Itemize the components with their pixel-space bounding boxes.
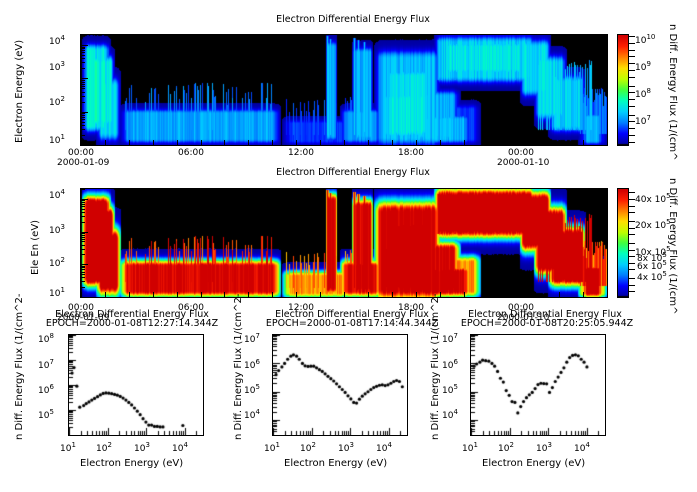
axis-tick — [464, 292, 465, 297]
axis-tick — [177, 292, 178, 297]
axis-tick — [81, 78, 88, 79]
spectrum-2-xtick-2: 103 — [338, 441, 354, 454]
spectrogram-mid-ytick-1: 103 — [49, 223, 65, 236]
spectrogram-top-title: Electron Differential Energy Flux — [233, 14, 473, 25]
spectrogram-top-ylabel: Electron Energy (eV) — [14, 40, 25, 143]
axis-tick — [81, 45, 88, 46]
axis-tick — [81, 272, 85, 273]
axis-tick — [81, 212, 85, 213]
spectrogram-mid-colorbar[interactable] — [617, 188, 629, 298]
spectrogram-top-xdate-right: 2000-01-10 — [497, 158, 549, 168]
colorbar-tick — [629, 269, 635, 270]
spectrum-3-canvas — [471, 335, 605, 435]
spectrum-3-ytick-3: 104 — [442, 408, 458, 421]
spectrum-2-xtick-3: 104 — [376, 441, 392, 454]
colorbar-tick — [629, 278, 635, 279]
spectrogram-top-ytick-2: 102 — [49, 95, 65, 108]
spectrogram-top-ytick-0: 104 — [49, 34, 65, 47]
axis-tick — [320, 292, 321, 297]
axis-tick — [81, 281, 85, 282]
axis-tick — [81, 235, 85, 236]
spectrum-3-ytick-0: 107 — [442, 332, 458, 345]
axis-tick — [81, 52, 85, 53]
axis-tick — [464, 140, 465, 145]
colorbar-tick — [629, 192, 635, 193]
spectrogram-mid-title: Electron Differential Energy Flux — [233, 167, 473, 178]
axis-tick — [416, 140, 417, 145]
axis-tick — [81, 274, 85, 275]
axis-tick — [511, 140, 512, 145]
axis-tick — [81, 233, 85, 234]
spectrogram-mid-ylabel: Ele En (eV) — [30, 220, 41, 275]
axis-tick — [81, 287, 85, 288]
colorbar-top-tick-1: 109 — [635, 60, 651, 73]
axis-tick — [81, 113, 85, 114]
colorbar-tick — [629, 234, 635, 235]
axis-tick — [344, 292, 345, 297]
spectrum-1-ytick-1: 107 — [38, 358, 54, 371]
axis-tick — [583, 140, 584, 145]
axis-tick — [81, 102, 85, 103]
colorbar-tick — [629, 256, 635, 257]
axis-tick — [81, 267, 85, 268]
axis-tick — [81, 86, 85, 87]
colorbar-tick — [629, 142, 635, 143]
axis-tick — [535, 140, 536, 145]
axis-tick — [440, 140, 441, 145]
axis-tick — [81, 125, 85, 126]
axis-tick — [81, 264, 88, 265]
axis-tick — [607, 292, 608, 297]
colorbar-tick — [629, 106, 635, 107]
axis-tick — [129, 140, 130, 145]
axis-tick — [272, 140, 273, 145]
axis-tick — [81, 92, 85, 93]
spectrum-1-xlabel: Electron Energy (eV) — [80, 458, 183, 469]
axis-tick — [224, 140, 225, 145]
spectrum-1-plot-area[interactable] — [68, 334, 204, 436]
axis-tick — [368, 140, 369, 145]
axis-tick — [81, 55, 85, 56]
axis-tick — [81, 202, 85, 203]
axis-tick — [105, 140, 106, 145]
axis-tick — [81, 84, 85, 85]
colorbar-tick — [629, 212, 635, 213]
colorbar-tick — [629, 56, 635, 57]
spectrum-2-subtitle: EPOCH=2000-01-08T17:14:44.344Z — [252, 318, 452, 329]
axis-tick — [81, 277, 85, 278]
axis-tick — [81, 119, 85, 120]
spectrum-2-ytick-1: 106 — [244, 358, 260, 371]
axis-tick — [81, 266, 85, 267]
colorbar-top-tick-0: 1010 — [635, 33, 655, 46]
axis-tick — [440, 292, 441, 297]
axis-tick — [81, 135, 85, 136]
spectrum-2-plot-area[interactable] — [272, 334, 408, 436]
axis-tick — [81, 241, 85, 242]
spectrum-3-xlabel: Electron Energy (eV) — [482, 458, 585, 469]
spectrum-1-xtick-3: 104 — [172, 441, 188, 454]
axis-tick — [81, 269, 85, 270]
axis-tick — [248, 292, 249, 297]
axis-tick — [81, 245, 85, 246]
colorbar-top-label: n Diff. Energy Flux (1/(cm^ — [667, 24, 678, 161]
spectrogram-top-xtick-4: 00:00 — [508, 148, 534, 158]
axis-tick — [224, 292, 225, 297]
axis-tick — [416, 292, 417, 297]
spectrogram-mid-plot-area[interactable] — [80, 188, 608, 298]
spectrum-1-ytick-3: 105 — [38, 408, 54, 421]
colorbar-tick — [629, 115, 635, 116]
colorbar-tick — [629, 228, 635, 229]
spectrogram-top-xdate-left: 2000-01-09 — [57, 158, 109, 168]
axis-tick — [559, 292, 560, 297]
spectrum-3-xtick-1: 102 — [498, 441, 514, 454]
spectrogram-top-ytick-1: 103 — [49, 60, 65, 73]
axis-tick — [81, 204, 85, 205]
axis-tick — [511, 292, 512, 297]
axis-tick — [320, 140, 321, 145]
axis-tick — [392, 140, 393, 145]
spectrum-3-ytick-2: 105 — [442, 383, 458, 396]
axis-tick — [81, 50, 85, 51]
axis-tick — [607, 140, 608, 145]
colorbar-tick — [629, 128, 635, 129]
spectrum-1-xtick-2: 103 — [134, 441, 150, 454]
axis-tick — [81, 216, 85, 217]
axis-tick — [81, 145, 88, 146]
axis-tick — [81, 249, 85, 250]
colorbar-tick — [629, 50, 635, 51]
spectrum-3-ylabel: n Diff. Energy Flux (1/(cm^2- — [430, 293, 441, 440]
axis-tick — [81, 96, 85, 97]
spectrum-2-xlabel: Electron Energy (eV) — [284, 458, 387, 469]
axis-tick — [129, 292, 130, 297]
colorbar-tick — [629, 250, 635, 251]
axis-tick — [81, 68, 85, 69]
spectrum-1-canvas — [69, 335, 203, 435]
spectrum-2-canvas — [273, 335, 407, 435]
axis-tick — [296, 292, 297, 297]
axis-tick — [248, 140, 249, 145]
axis-tick — [487, 292, 488, 297]
colorbar-tick — [629, 86, 635, 87]
axis-tick — [153, 140, 154, 145]
spectrogram-top-xtick-2: 12:00 — [288, 148, 314, 158]
axis-tick — [81, 122, 85, 123]
axis-tick — [296, 140, 297, 145]
axis-tick — [81, 115, 85, 116]
axis-tick — [81, 58, 85, 59]
axis-tick — [368, 292, 369, 297]
axis-tick — [201, 140, 202, 145]
axis-tick — [81, 88, 85, 89]
axis-tick — [81, 48, 85, 49]
axis-tick — [81, 232, 88, 233]
axis-tick — [81, 62, 85, 63]
spectrum-2-ytick-3: 104 — [244, 408, 260, 421]
axis-tick — [392, 292, 393, 297]
spectrogram-top-colorbar[interactable] — [617, 34, 629, 146]
axis-tick — [81, 237, 85, 238]
axis-tick — [177, 140, 178, 145]
colorbar-tick — [629, 43, 635, 44]
colorbar-top-tick-2: 108 — [635, 87, 651, 100]
axis-tick — [81, 297, 88, 298]
axis-tick — [81, 222, 85, 223]
colorbar-tick — [629, 99, 635, 100]
colorbar-tick — [629, 243, 635, 244]
axis-tick — [81, 189, 85, 190]
axis-tick — [81, 35, 85, 36]
axis-tick — [272, 292, 273, 297]
spectrogram-top-xtick-0: 00:00 — [68, 148, 94, 158]
axis-tick — [583, 292, 584, 297]
axis-tick — [201, 292, 202, 297]
spectrum-1-subtitle: EPOCH=2000-01-08T12:27:14.344Z — [32, 318, 232, 329]
spectrum-1-xtick-0: 101 — [60, 441, 76, 454]
colorbar-tick — [629, 263, 635, 264]
colorbar-mid-tick-0: 40x 105 — [635, 192, 671, 205]
axis-tick — [81, 199, 88, 200]
spectrogram-mid-ytick-3: 101 — [49, 286, 65, 299]
colorbar-tick — [629, 92, 635, 93]
axis-tick — [81, 129, 85, 130]
axis-tick — [81, 254, 85, 255]
colorbar-tick — [629, 135, 635, 136]
spectrogram-top-plot-area[interactable] — [80, 34, 608, 146]
spectrum-3-plot-area[interactable] — [470, 334, 606, 436]
colorbar-tick — [629, 63, 635, 64]
spectrum-3-xtick-2: 103 — [536, 441, 552, 454]
axis-tick — [559, 140, 560, 145]
axis-tick — [81, 239, 85, 240]
axis-tick — [344, 140, 345, 145]
colorbar-tick — [629, 121, 635, 122]
spectrogram-mid-ytick-2: 102 — [49, 256, 65, 269]
spectrum-3-xtick-0: 101 — [462, 441, 478, 454]
colorbar-mid-label: n Diff. Energy Flux (1/(cm^ — [667, 178, 678, 315]
spectrogram-top-xtick-1: 06:00 — [178, 148, 204, 158]
spectrogram-top-ytick-3: 101 — [49, 133, 65, 146]
spectrum-3-xtick-3: 104 — [574, 441, 590, 454]
colorbar-tick — [629, 70, 635, 71]
axis-tick — [81, 47, 85, 48]
axis-tick — [81, 82, 85, 83]
axis-tick — [81, 80, 85, 81]
spectrogram-mid-ytick-0: 104 — [49, 188, 65, 201]
colorbar-tick — [629, 285, 635, 286]
axis-tick — [81, 117, 85, 118]
spectrum-1-ytick-0: 108 — [38, 332, 54, 345]
colorbar-tick — [629, 77, 635, 78]
spectrum-2-ylabel: n Diff. Energy Flux (1/(cm^2- — [233, 293, 244, 440]
axis-tick — [81, 200, 85, 201]
spectrum-1-xtick-1: 102 — [96, 441, 112, 454]
colorbar-mid-canvas — [618, 189, 628, 297]
spectrum-1-ytick-2: 106 — [38, 383, 54, 396]
colorbar-tick — [629, 36, 635, 37]
axis-tick — [81, 209, 85, 210]
colorbar-tick — [629, 206, 635, 207]
colorbar-tick — [629, 199, 635, 200]
spectrum-2-ytick-0: 107 — [244, 332, 260, 345]
axis-tick — [153, 292, 154, 297]
colorbar-tick — [629, 221, 635, 222]
colorbar-top-canvas — [618, 35, 628, 145]
colorbar-mid-tick-5: 4x 105 — [637, 270, 667, 283]
spectrum-3-ytick-1: 106 — [442, 358, 458, 371]
spectrum-2-xtick-0: 101 — [264, 441, 280, 454]
spectrogram-top-canvas — [81, 35, 607, 145]
spectrum-1-ylabel: n Diff. Energy Flux (1/(cm^2- — [14, 293, 25, 440]
colorbar-tick — [629, 291, 635, 292]
spectrum-2-xtick-1: 102 — [300, 441, 316, 454]
spectrogram-top-xtick-3: 18:00 — [398, 148, 424, 158]
axis-tick — [105, 292, 106, 297]
spectrum-2-ytick-2: 105 — [244, 383, 260, 396]
axis-tick — [81, 112, 88, 113]
spectrogram-mid-canvas — [81, 189, 607, 297]
axis-tick — [535, 292, 536, 297]
axis-tick — [487, 140, 488, 145]
colorbar-top-tick-3: 107 — [635, 114, 651, 127]
colorbar-mid-tick-1: 20x 105 — [635, 218, 671, 231]
axis-tick — [81, 206, 85, 207]
spectrum-3-subtitle: EPOCH=2000-01-08T20:25:05.944Z — [447, 318, 647, 329]
